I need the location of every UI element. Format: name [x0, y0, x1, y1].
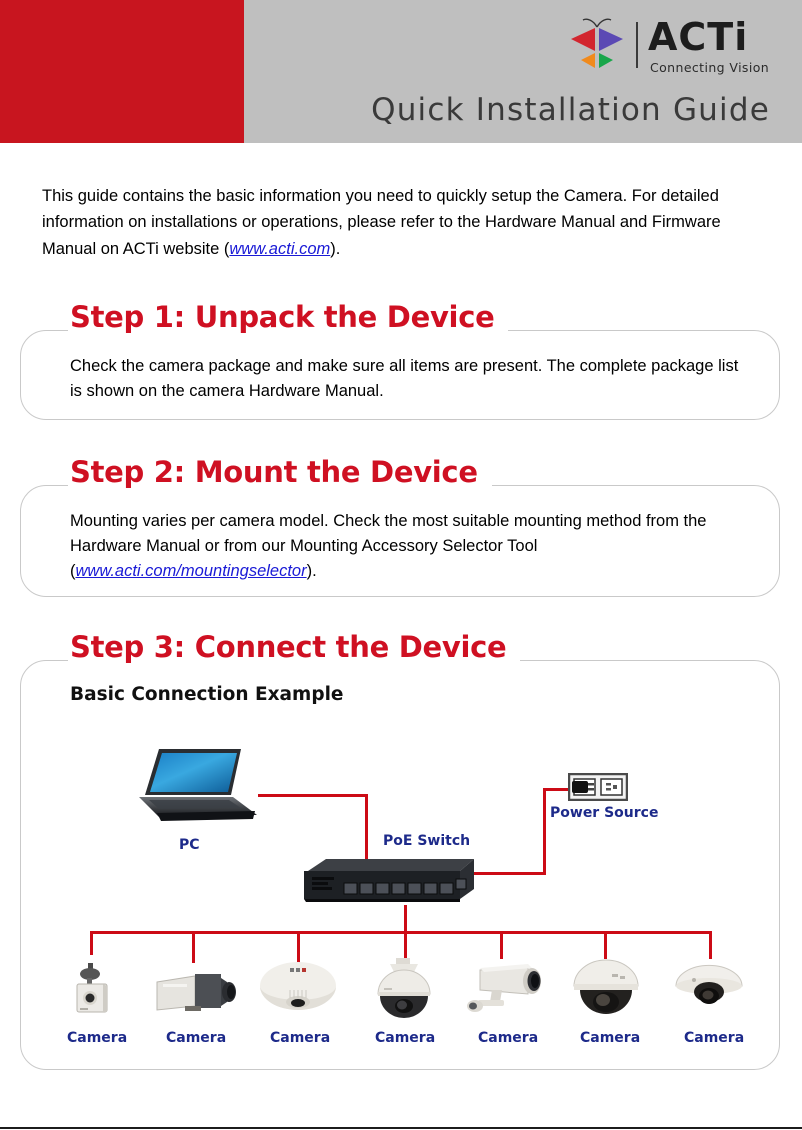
brand-name: ACTi — [648, 18, 748, 56]
acti-website-link[interactable]: www.acti.com — [229, 240, 330, 258]
wire-switch-to-power-horizontal — [470, 872, 546, 875]
intro-text-part1: This guide contains the basic informatio… — [42, 187, 721, 258]
acti-logo: ACTi Connecting Vision — [566, 16, 771, 78]
step-2-body: Mounting varies per camera model. Check … — [70, 509, 760, 584]
wire-pc-to-switch-vertical — [365, 794, 368, 862]
step-3-title: Step 3: Connect the Device — [68, 630, 520, 664]
wire-drop-camera-4 — [404, 931, 407, 959]
camera-bus-horizontal — [90, 931, 710, 934]
camera-5-label: Camera — [478, 1030, 538, 1046]
wire-pc-to-switch-horizontal — [258, 794, 368, 797]
network-switch-icon — [300, 855, 480, 907]
wire-drop-camera-3 — [297, 931, 300, 963]
box-camera-icon — [155, 966, 243, 1018]
camera-3-label: Camera — [270, 1030, 330, 1046]
cube-camera-icon — [60, 963, 130, 1019]
wire-drop-camera-2 — [192, 931, 195, 963]
step-2-title: Step 2: Mount the Device — [68, 455, 492, 489]
brand-tagline: Connecting Vision — [650, 60, 769, 75]
logo-divider — [636, 22, 638, 68]
step-1-title: Step 1: Unpack the Device — [68, 300, 508, 334]
wire-drop-camera-5 — [500, 931, 503, 959]
intro-paragraph: This guide contains the basic informatio… — [42, 183, 772, 263]
acti-butterfly-logo-icon — [566, 18, 628, 72]
poe-switch-label: PoE Switch — [383, 833, 470, 849]
pc-label: PC — [179, 837, 200, 853]
vandal-dome-camera-icon — [568, 958, 644, 1020]
camera-1-label: Camera — [67, 1030, 127, 1046]
page-header: ACTi Connecting Vision Quick Installatio… — [0, 0, 802, 143]
camera-6-label: Camera — [580, 1030, 640, 1046]
wire-drop-camera-1 — [90, 931, 93, 955]
laptop-icon — [137, 745, 262, 823]
wire-drop-camera-6 — [604, 931, 607, 959]
power-source-label: Power Source — [550, 805, 658, 821]
ptz-speed-dome-camera-icon — [368, 958, 440, 1020]
basic-connection-example-label: Basic Connection Example — [70, 684, 343, 705]
wire-drop-camera-7 — [709, 931, 712, 959]
page-title: Quick Installation Guide — [0, 92, 770, 128]
step-2-text-part2: ). — [307, 562, 317, 580]
mini-dome-camera-icon — [672, 962, 746, 1018]
step-1-body: Check the camera package and make sure a… — [70, 354, 750, 404]
wire-power-riser-vertical — [543, 788, 546, 875]
fisheye-camera-icon — [258, 960, 338, 1018]
camera-7-label: Camera — [684, 1030, 744, 1046]
camera-4-label: Camera — [375, 1030, 435, 1046]
page-bottom-rule — [0, 1127, 802, 1129]
wire-switch-to-bus-vertical — [404, 905, 407, 933]
bullet-camera-icon — [462, 960, 548, 1018]
wall-outlet-icon — [568, 773, 628, 801]
camera-2-label: Camera — [166, 1030, 226, 1046]
mounting-selector-link[interactable]: www.acti.com/mountingselector — [76, 562, 307, 580]
intro-text-part2: ). — [330, 240, 340, 258]
